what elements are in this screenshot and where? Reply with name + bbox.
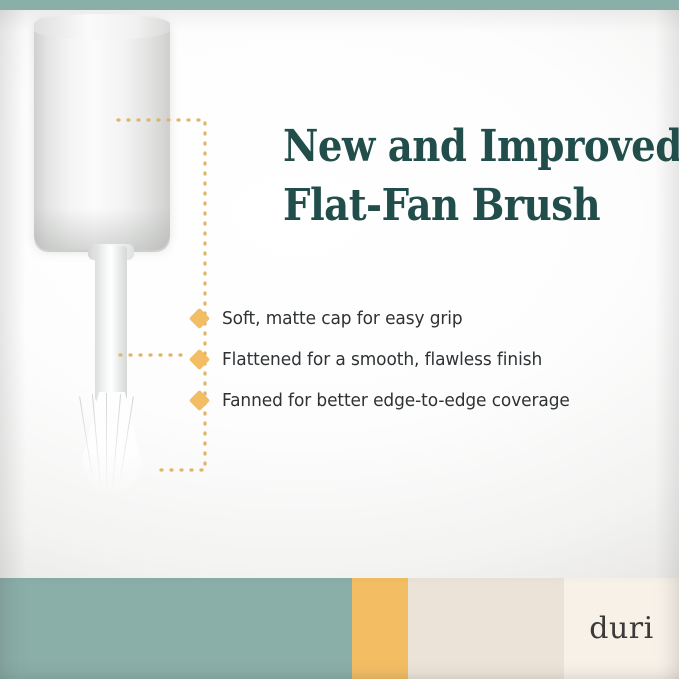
color-swatch-teal	[0, 578, 352, 679]
list-item: Fanned for better edge-to-edge coverage	[192, 380, 662, 421]
brand-logo-text: duri	[589, 611, 653, 646]
page-title: New and Improved Flat-Fan Brush	[283, 118, 617, 235]
color-swatch-gold	[352, 578, 408, 679]
headline-line-1: New and Improved	[283, 121, 679, 172]
diamond-bullet-icon	[189, 390, 210, 411]
diamond-bullet-icon	[189, 308, 210, 329]
bullet-label: Flattened for a smooth, flawless finish	[222, 350, 542, 370]
list-item: Flattened for a smooth, flawless finish	[192, 339, 662, 380]
brand-logo-panel: duri	[564, 578, 679, 679]
feature-bullet-list: Soft, matte cap for easy grip Flattened …	[192, 298, 662, 421]
top-teal-bar	[0, 0, 679, 10]
diamond-bullet-icon	[189, 349, 210, 370]
headline-line-2: Flat-Fan Brush	[283, 177, 617, 236]
product-feature-banner: New and Improved Flat-Fan Brush Soft, ma…	[0, 0, 679, 679]
color-swatch-cream	[408, 578, 564, 679]
bullet-label: Soft, matte cap for easy grip	[222, 309, 463, 329]
bullet-label: Fanned for better edge-to-edge coverage	[222, 391, 570, 411]
dotted-connector-lines	[0, 10, 679, 578]
list-item: Soft, matte cap for easy grip	[192, 298, 662, 339]
bottom-color-bar: duri	[0, 578, 679, 679]
